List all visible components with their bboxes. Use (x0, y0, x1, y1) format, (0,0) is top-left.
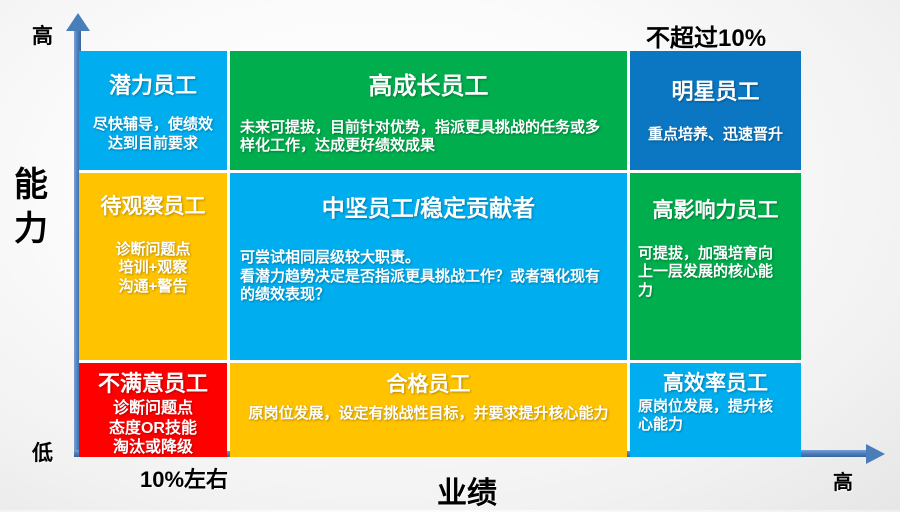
matrix-cell-high-growth[interactable]: 高成长员工 未来可提拔，目前针对优势，指派更具挑战的任务或多 样化工作，达成更好… (230, 51, 627, 170)
matrix-cell-core-contributor[interactable]: 中坚员工/稳定贡献者 可尝试相同层级较大职责。 看潜力趋势决定是否指派更具挑战工… (230, 173, 627, 360)
cell-body: 原岗位发展，提升核 心能力 (636, 398, 795, 435)
y-axis-arrow-icon (66, 13, 90, 31)
cell-title: 合格员工 (236, 373, 621, 397)
matrix-cell-unsatisfied[interactable]: 不满意员工 诊断问题点 态度OR技能 淘汰或降级 (79, 363, 227, 457)
matrix-cell-efficient[interactable]: 高效率员工 原岗位发展，提升核 心能力 (630, 363, 801, 457)
cell-body: 诊断问题点 培训+观察 沟通+警告 (85, 241, 221, 296)
cell-body: 诊断问题点 态度OR技能 淘汰或降级 (85, 399, 221, 457)
y-axis-tick-low: 低 (32, 437, 53, 467)
cell-title: 中坚员工/稳定贡献者 (236, 195, 621, 221)
matrix-cell-star[interactable]: 明星员工 重点培养、迅速晋升 (630, 51, 801, 170)
y-axis-tick-high: 高 (32, 20, 53, 50)
cell-title: 高成长员工 (236, 73, 621, 101)
cell-title: 高影响力员工 (636, 199, 795, 223)
cell-body: 尽快辅导，使绩效 达到目前要求 (85, 116, 221, 153)
x-axis-title: 业绩 (437, 468, 497, 512)
matrix-cell-watch[interactable]: 待观察员工 诊断问题点 培训+观察 沟通+警告 (79, 173, 227, 360)
nine-box-grid: 潜力员工 尽快辅导，使绩效 达到目前要求 高成长员工 未来可提拔，目前针对优势，… (79, 51, 795, 451)
cell-body: 原岗位发展，设定有挑战性目标，并要求提升核心能力 (236, 405, 621, 423)
x-axis-tick-high: 高 (833, 466, 853, 495)
cell-body: 可提拔，加强培育向 上一层发展的核心能 力 (636, 245, 795, 300)
cell-body: 未来可提拔，目前针对优势，指派更具挑战的任务或多 样化工作，达成更好绩效成果 (236, 119, 621, 156)
cell-title: 潜力员工 (85, 73, 221, 98)
y-axis-title: 能力 (8, 163, 54, 251)
cell-title: 明星员工 (636, 79, 795, 104)
matrix-cell-potential[interactable]: 潜力员工 尽快辅导，使绩效 达到目前要求 (79, 51, 227, 170)
cell-title: 不满意员工 (85, 371, 221, 396)
matrix-cell-qualified[interactable]: 合格员工 原岗位发展，设定有挑战性目标，并要求提升核心能力 (230, 363, 627, 457)
talent-matrix-diagram: 能力 高 低 业绩 高 10%左右 不超过10% 潜力员工 尽快辅导，使绩效 达… (0, 0, 900, 510)
x-axis-arrow-icon (866, 444, 885, 464)
bottom-left-percentage-note: 10%左右 (140, 462, 228, 494)
cell-body: 可尝试相同层级较大职责。 看潜力趋势决定是否指派更具挑战工作？或者强化现有 的绩… (236, 249, 621, 304)
cell-body: 重点培养、迅速晋升 (636, 126, 795, 144)
cell-title: 高效率员工 (636, 372, 795, 396)
matrix-cell-high-impact[interactable]: 高影响力员工 可提拔，加强培育向 上一层发展的核心能 力 (630, 173, 801, 360)
cell-title: 待观察员工 (85, 195, 221, 219)
top-right-percentage-note: 不超过10% (646, 18, 766, 53)
